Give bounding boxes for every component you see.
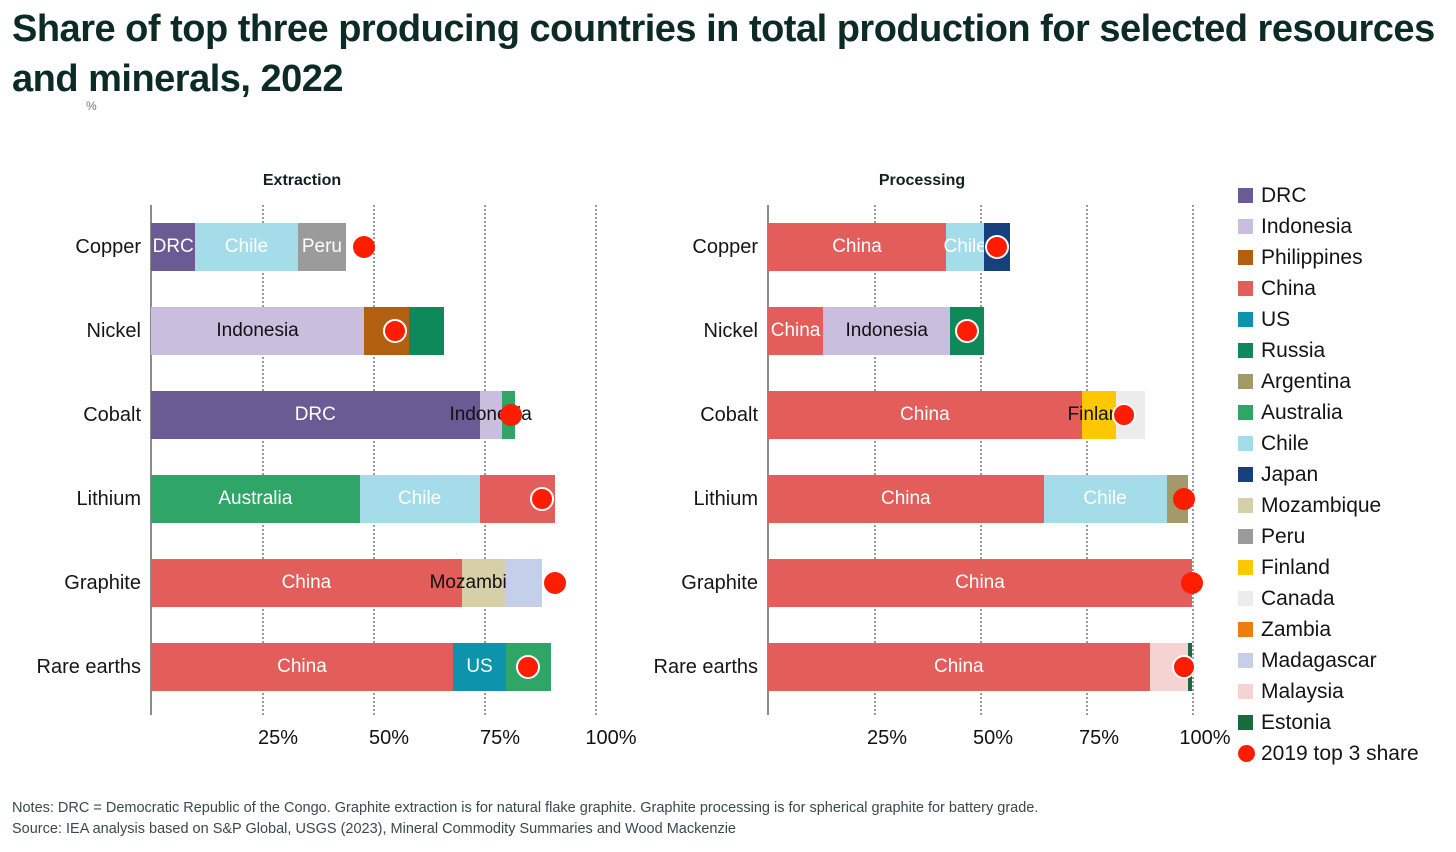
legend-label: Peru xyxy=(1261,525,1305,549)
bar-segment-label: China xyxy=(277,656,327,678)
marker-2019-top3-share xyxy=(1112,403,1136,427)
legend-swatch-icon xyxy=(1238,529,1253,544)
bar-segment-label: China xyxy=(934,656,984,678)
x-axis-tick-label: 25% xyxy=(258,727,298,750)
legend-item-2019-top-3-share[interactable]: 2019 top 3 share xyxy=(1238,738,1454,769)
legend-label: US xyxy=(1261,308,1290,332)
category-label: Cobalt xyxy=(0,391,141,439)
bar-row[interactable]: CobaltDRCIndonesia xyxy=(151,391,595,439)
legend-label: Japan xyxy=(1261,463,1318,487)
notes-line: Notes: DRC = Democratic Republic of the … xyxy=(12,798,1452,819)
legend-swatch-icon xyxy=(1238,684,1253,699)
legend-item-finland[interactable]: Finland xyxy=(1238,552,1454,583)
bar-segment-label: China xyxy=(832,236,882,258)
bar-segment-label: China xyxy=(881,488,931,510)
page-title: Share of top three producing countries i… xyxy=(12,4,1452,104)
legend-swatch-icon xyxy=(1238,436,1253,451)
bar-segment-australia[interactable]: Australia xyxy=(151,475,360,523)
bar-row[interactable]: GraphiteChinaMozambique xyxy=(151,559,595,607)
legend-item-russia[interactable]: Russia xyxy=(1238,335,1454,366)
legend-marker-dot-icon xyxy=(1238,745,1255,762)
x-axis-tick-label: 75% xyxy=(1079,727,1119,750)
bar-segment-label: Chile xyxy=(1083,488,1126,510)
legend-label: Russia xyxy=(1261,339,1325,363)
legend-item-us[interactable]: US xyxy=(1238,304,1454,335)
bar-segment-chile[interactable]: Chile xyxy=(360,475,480,523)
bar-segment-madagascar[interactable] xyxy=(506,559,542,607)
legend-swatch-icon xyxy=(1238,591,1253,606)
bar-segment-china[interactable]: China xyxy=(151,643,453,691)
category-label: Copper xyxy=(0,223,141,271)
legend-swatch-icon xyxy=(1238,622,1253,637)
bar-segment-label: Australia xyxy=(218,488,292,510)
legend-swatch-icon xyxy=(1238,467,1253,482)
marker-2019-top3-share xyxy=(500,404,522,426)
marker-2019-top3-share xyxy=(544,572,566,594)
legend-label: 2019 top 3 share xyxy=(1261,742,1419,766)
source-line: Source: IEA analysis based on S&P Global… xyxy=(12,819,1452,840)
bar-segment-china[interactable]: China xyxy=(768,307,823,355)
bar-segment-china[interactable]: China xyxy=(768,475,1044,523)
gridline-50% xyxy=(980,205,982,715)
legend: DRCIndonesiaPhilippinesChinaUSRussiaArge… xyxy=(1238,180,1454,769)
category-label: Nickel xyxy=(0,307,141,355)
legend-swatch-icon xyxy=(1238,312,1253,327)
marker-2019-top3-share xyxy=(383,319,407,343)
gridline-25% xyxy=(262,205,264,715)
bar-segment-label: China xyxy=(282,572,332,594)
bar-segment-china[interactable]: China xyxy=(151,559,462,607)
category-label: Lithium xyxy=(0,475,141,523)
bar-segment-label: Chile xyxy=(225,236,268,258)
category-label: Rare earths xyxy=(598,643,758,691)
bar-row[interactable]: GraphiteChina xyxy=(768,559,1192,607)
bar-segment-peru[interactable]: Peru xyxy=(298,223,347,271)
legend-label: Canada xyxy=(1261,587,1335,611)
bar-row[interactable]: NickelChinaIndonesia xyxy=(768,307,1192,355)
legend-swatch-icon xyxy=(1238,715,1253,730)
bar-row[interactable]: Rare earthsChinaUS xyxy=(151,643,595,691)
bar-segment-chile[interactable]: Chile xyxy=(1044,475,1167,523)
gridline-75% xyxy=(1086,205,1088,715)
x-axis-tick-label: 50% xyxy=(369,727,409,750)
bar-segment-label: China xyxy=(955,572,1005,594)
bar-segment-mozambique[interactable]: Mozambique xyxy=(462,559,506,607)
bar-segment-label: Indonesia xyxy=(216,320,298,342)
bar-segment-china[interactable]: China xyxy=(768,391,1082,439)
legend-item-estonia[interactable]: Estonia xyxy=(1238,707,1454,738)
legend-label: Australia xyxy=(1261,401,1343,425)
legend-item-drc[interactable]: DRC xyxy=(1238,180,1454,211)
legend-label: Madagascar xyxy=(1261,649,1377,673)
bar-segment-label: US xyxy=(466,656,492,678)
marker-2019-top3-share xyxy=(353,236,375,258)
legend-label: Estonia xyxy=(1261,711,1331,735)
bar-segment-russia[interactable] xyxy=(409,307,445,355)
legend-item-chile[interactable]: Chile xyxy=(1238,428,1454,459)
bar-segment-label: Indonesia xyxy=(846,320,928,342)
bar-row[interactable]: CopperDRCChilePeru xyxy=(151,223,595,271)
category-label: Graphite xyxy=(598,559,758,607)
bar-row[interactable]: CobaltChinaFinland xyxy=(768,391,1192,439)
legend-swatch-icon xyxy=(1238,374,1253,389)
legend-label: Indonesia xyxy=(1261,215,1352,239)
bar-segment-china[interactable]: China xyxy=(768,223,946,271)
legend-item-malaysia[interactable]: Malaysia xyxy=(1238,676,1454,707)
bar-segment-drc[interactable]: DRC xyxy=(151,391,480,439)
bar-segment-label: Peru xyxy=(302,236,342,258)
legend-swatch-icon xyxy=(1238,405,1253,420)
legend-swatch-icon xyxy=(1238,219,1253,234)
legend-swatch-icon xyxy=(1238,653,1253,668)
y-axis-line xyxy=(767,205,769,715)
bar-segment-chile[interactable]: Chile xyxy=(946,223,984,271)
category-label: Copper xyxy=(598,223,758,271)
legend-item-peru[interactable]: Peru xyxy=(1238,521,1454,552)
gridline-75% xyxy=(484,205,486,715)
legend-swatch-icon xyxy=(1238,188,1253,203)
legend-label: DRC xyxy=(1261,184,1307,208)
bar-segment-label: DRC xyxy=(153,236,194,258)
legend-label: Finland xyxy=(1261,556,1330,580)
bar-row[interactable]: LithiumChinaChile xyxy=(768,475,1192,523)
category-label: Nickel xyxy=(598,307,758,355)
bar-segment-label: China xyxy=(771,320,821,342)
legend-label: Philippines xyxy=(1261,246,1363,270)
legend-item-mozambique[interactable]: Mozambique xyxy=(1238,490,1454,521)
marker-2019-top3-share xyxy=(1172,655,1196,679)
notes-block: Notes: DRC = Democratic Republic of the … xyxy=(12,798,1452,840)
x-axis-tick-label: 100% xyxy=(1179,727,1230,750)
legend-swatch-icon xyxy=(1238,498,1253,513)
legend-item-madagascar[interactable]: Madagascar xyxy=(1238,645,1454,676)
legend-item-philippines[interactable]: Philippines xyxy=(1238,242,1454,273)
panel-processing: Processing 25%50%75%100%CopperChinaChile… xyxy=(612,160,1252,760)
gridline-50% xyxy=(373,205,375,715)
legend-label: Malaysia xyxy=(1261,680,1344,704)
legend-label: Argentina xyxy=(1261,370,1351,394)
bar-segment-label: Chile xyxy=(398,488,441,510)
legend-swatch-icon xyxy=(1238,560,1253,575)
gridline-25% xyxy=(874,205,876,715)
bar-segment-indonesia[interactable]: Indonesia xyxy=(151,307,364,355)
panel-title-extraction: Extraction xyxy=(0,172,622,190)
category-label: Rare earths xyxy=(0,643,141,691)
x-axis-tick-label: 50% xyxy=(973,727,1013,750)
legend-swatch-icon xyxy=(1238,250,1253,265)
legend-swatch-icon xyxy=(1238,281,1253,296)
bar-segment-finland[interactable]: Finland xyxy=(1082,391,1116,439)
legend-label: Zambia xyxy=(1261,618,1331,642)
panel-title-processing: Processing xyxy=(602,172,1242,190)
plot-area-extraction: 25%50%75%100%CopperDRCChilePeruNickelInd… xyxy=(151,205,595,715)
legend-item-zambia[interactable]: Zambia xyxy=(1238,614,1454,645)
legend-swatch-icon xyxy=(1238,343,1253,358)
legend-item-argentina[interactable]: Argentina xyxy=(1238,366,1454,397)
bar-segment-us[interactable]: US xyxy=(453,643,506,691)
bar-segment-china[interactable]: China xyxy=(768,643,1150,691)
marker-2019-top3-share xyxy=(1173,488,1195,510)
bar-row[interactable]: CopperChinaChile xyxy=(768,223,1192,271)
legend-label: China xyxy=(1261,277,1316,301)
bar-segment-china[interactable]: China xyxy=(768,559,1192,607)
category-label: Cobalt xyxy=(598,391,758,439)
bar-segment-label: DRC xyxy=(295,404,336,426)
marker-2019-top3-share xyxy=(530,487,554,511)
legend-item-canada[interactable]: Canada xyxy=(1238,583,1454,614)
bar-segment-drc[interactable]: DRC xyxy=(151,223,195,271)
marker-2019-top3-share xyxy=(1181,572,1203,594)
legend-item-indonesia[interactable]: Indonesia xyxy=(1238,211,1454,242)
unit-label: % xyxy=(86,99,97,113)
bar-segment-chile[interactable]: Chile xyxy=(195,223,297,271)
panel-extraction: Extraction 25%50%75%100%CopperDRCChilePe… xyxy=(0,160,640,760)
gridline-100% xyxy=(595,205,597,715)
bar-segment-indonesia[interactable]: Indonesia xyxy=(480,391,502,439)
y-axis-line xyxy=(150,205,152,715)
bar-row[interactable]: Rare earthsChina xyxy=(768,643,1192,691)
bar-segment-label: China xyxy=(900,404,950,426)
category-label: Lithium xyxy=(598,475,758,523)
gridline-100% xyxy=(1192,205,1194,715)
title-block: Share of top three producing countries i… xyxy=(12,4,1452,104)
legend-item-china[interactable]: China xyxy=(1238,273,1454,304)
bar-row[interactable]: NickelIndonesia xyxy=(151,307,595,355)
x-axis-tick-label: 75% xyxy=(480,727,520,750)
bar-segment-indonesia[interactable]: Indonesia xyxy=(823,307,950,355)
legend-item-australia[interactable]: Australia xyxy=(1238,397,1454,428)
legend-label: Chile xyxy=(1261,432,1309,456)
bar-row[interactable]: LithiumAustraliaChile xyxy=(151,475,595,523)
plot-area-processing: 25%50%75%100%CopperChinaChileNickelChina… xyxy=(768,205,1192,715)
category-label: Graphite xyxy=(0,559,141,607)
x-axis-tick-label: 25% xyxy=(867,727,907,750)
marker-2019-top3-share xyxy=(985,235,1009,259)
bar-segment-label: Chile xyxy=(944,236,987,258)
legend-label: Mozambique xyxy=(1261,494,1381,518)
legend-item-japan[interactable]: Japan xyxy=(1238,459,1454,490)
